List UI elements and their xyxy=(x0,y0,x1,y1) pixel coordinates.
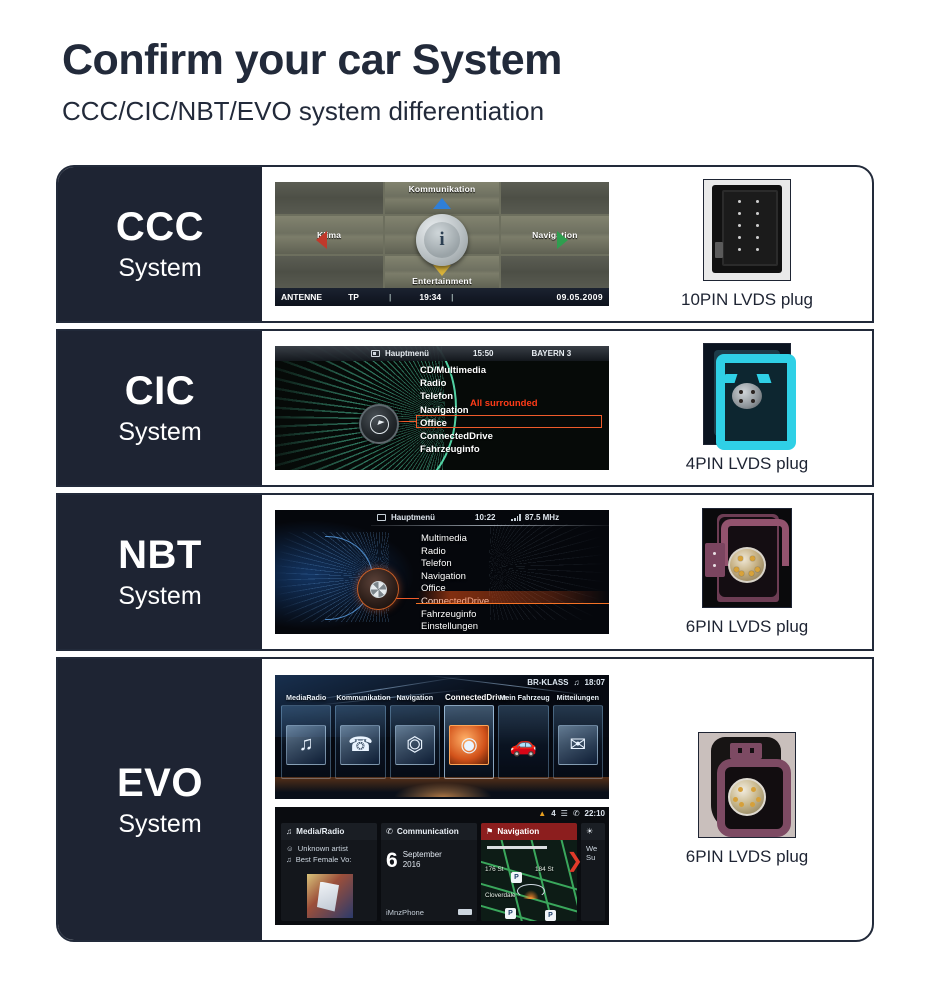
envelope-icon: ✉ xyxy=(558,725,598,765)
evo-station: BR-KLASS xyxy=(527,678,568,687)
evo-reflection xyxy=(395,783,491,797)
ccc-cell-blank-tr xyxy=(501,182,609,214)
cic-menu-item-6[interactable]: Fahrzeuginfo xyxy=(420,443,493,456)
battery-icon xyxy=(458,909,472,915)
phone-icon: ✆ xyxy=(386,826,393,836)
next-page-chevron-icon[interactable]: ❯ xyxy=(566,851,583,871)
evo-card-navigation[interactable]: ⚑ Navigation xyxy=(481,823,577,921)
nbt-title: Hauptmenü xyxy=(391,513,435,522)
plug-caption-ccc: 10PIN LVDS plug xyxy=(681,290,813,310)
evo-month: September xyxy=(403,850,442,860)
ccc-tile-label-top: Kommunikation xyxy=(409,184,476,194)
ccc-screen-image: Kommunikation Klima Navigation Entertai xyxy=(275,182,609,306)
car-icon: 🚗 xyxy=(503,725,543,765)
ccc-sep-1: | xyxy=(389,292,391,302)
nbt-time: 10:22 xyxy=(475,513,495,522)
evo-device-name: iMnzPhone xyxy=(386,908,424,917)
nbt-menu-item-2[interactable]: Telefon xyxy=(421,558,489,571)
evo-tile-row: MediaRadio ♫ Kommunikation ☎ Navigation … xyxy=(281,705,603,779)
plug-image-ccc xyxy=(703,179,791,281)
plug-image-cic xyxy=(703,343,791,445)
evo-tile-connecteddrive[interactable]: ConnectedDrive ◉ xyxy=(444,705,494,779)
parking-pin-icon: P xyxy=(505,908,516,919)
warning-icon: ▲ xyxy=(538,809,546,818)
cursor-icon xyxy=(370,415,389,434)
evo-media-line-0: ☺ Unknown artist xyxy=(286,844,372,853)
signal-icon xyxy=(511,514,520,521)
plug-top-block xyxy=(730,743,762,759)
evo-tile-label-1: Kommunikation xyxy=(336,693,384,702)
chevron-up-icon xyxy=(433,198,451,209)
phone-icon: ✆ xyxy=(573,809,580,818)
nbt-menu-item-7[interactable]: Einstellungen xyxy=(421,621,489,634)
cic-screen-image: Hauptmenü 15:50 BAYERN 3 CD/Multimedia R… xyxy=(275,346,609,470)
album-cover xyxy=(307,874,353,918)
evo-bottom-time: 22:10 xyxy=(585,809,605,818)
evo-tile-label-5: Mitteilungen xyxy=(554,693,602,702)
info-icon: i xyxy=(424,222,460,258)
screen-pane-evo: BR-KLASS ♫ 18:07 MediaRadio ♫ Kommunikat… xyxy=(262,659,622,940)
parking-pin-icon: P xyxy=(545,910,556,921)
ccc-station: ANTENNE xyxy=(281,292,322,302)
menu-icon xyxy=(371,350,380,357)
cic-dial-graphic xyxy=(359,404,399,444)
evo-card-weather[interactable]: ☀ We Su xyxy=(581,823,605,921)
phone-chat-icon: ☎ xyxy=(340,725,380,765)
evo-card-body-1: 6 September 2016 iMnzPhone xyxy=(381,840,477,921)
screen-pane-nbt: Hauptmenü 10:22 87.5 MHz Multimedia Radi… xyxy=(262,495,622,649)
plug-latch xyxy=(715,242,723,258)
evo-card-title-1: Communication xyxy=(397,827,459,836)
evo-day: 6 xyxy=(386,850,398,871)
nbt-menu-list: Multimedia Radio Telefon Navigation Offi… xyxy=(421,533,489,634)
evo-card-head-1: ✆ Communication xyxy=(381,823,477,840)
ccc-tile-navigation: Navigation xyxy=(501,216,609,253)
nbt-screen-image: Hauptmenü 10:22 87.5 MHz Multimedia Radi… xyxy=(275,510,609,634)
ccc-cell-blank-br xyxy=(501,256,609,288)
system-comparison-page: Confirm your car System CCC/CIC/NBT/EVO … xyxy=(0,0,930,1000)
evo-card-media-radio[interactable]: ♫ Media/Radio ☺ Unknown artist ♫ xyxy=(281,823,377,921)
cic-menu-item-1[interactable]: Radio xyxy=(420,377,493,390)
evo-tile-mitteilungen[interactable]: Mitteilungen ✉ xyxy=(553,705,603,779)
evo-top-status: BR-KLASS ♫ 18:07 xyxy=(527,678,605,687)
evo-card-body-0: ☺ Unknown artist ♫ Best Female Vo: xyxy=(281,840,377,921)
system-name-cic: CIC xyxy=(125,371,195,411)
ccc-traffic: TP xyxy=(348,292,359,302)
plug-caption-cic: 4PIN LVDS plug xyxy=(686,454,809,474)
menu-icon xyxy=(377,514,386,521)
page-header: Confirm your car System CCC/CIC/NBT/EVO … xyxy=(62,38,882,126)
plug-image-nbt xyxy=(702,508,792,608)
nbt-dial-graphic xyxy=(357,568,399,610)
label-pane-nbt: NBT System xyxy=(58,495,262,649)
system-name-nbt: NBT xyxy=(118,535,202,575)
system-row-cic[interactable]: CIC System Hauptmenü 15:50 BAYERN 3 CD/M… xyxy=(56,329,874,487)
evo-card-title-0: Media/Radio xyxy=(296,827,344,836)
vehicle-position-icon xyxy=(523,890,539,899)
evo-tile-mediaradio[interactable]: MediaRadio ♫ xyxy=(281,705,331,779)
ccc-cell-blank-tl xyxy=(275,182,383,214)
album-art-icon: ♫ xyxy=(286,725,326,765)
plug-pins-6 xyxy=(728,547,766,583)
evo-tile-navigation[interactable]: Navigation ⏣ xyxy=(390,705,440,779)
evo-card-title-2: Navigation xyxy=(497,827,539,836)
person-icon: ☺ xyxy=(286,844,294,853)
system-row-nbt[interactable]: NBT System Hauptmenü 10:22 xyxy=(56,493,874,651)
evo-tile-label-3: ConnectedDrive xyxy=(445,693,493,702)
evo-screen-top-image: BR-KLASS ♫ 18:07 MediaRadio ♫ Kommunikat… xyxy=(275,675,609,799)
music-note-icon: ♫ xyxy=(286,827,292,836)
evo-card-communication[interactable]: ✆ Communication 6 September 2016 xyxy=(381,823,477,921)
label-pane-evo: EVO System xyxy=(58,659,262,940)
plug-pane-cic: 4PIN LVDS plug xyxy=(622,331,872,485)
evo-weather-line-1: Su xyxy=(586,853,600,862)
plug-side-block xyxy=(705,543,725,577)
idrive-knob: i xyxy=(416,214,468,266)
evo-tile-kommunikation[interactable]: Kommunikation ☎ xyxy=(335,705,385,779)
evo-map-label-2: Cloverdale xyxy=(485,892,516,899)
ccc-tile-label-bottom: Entertainment xyxy=(412,276,472,286)
ccc-sep-2: | xyxy=(451,292,453,302)
label-pane-cic: CIC System xyxy=(58,331,262,485)
system-name-evo: EVO xyxy=(117,763,203,803)
label-pane-ccc: CCC System xyxy=(58,167,262,321)
evo-map-label-1: 184 St xyxy=(535,866,553,873)
plug-pane-ccc: 10PIN LVDS plug xyxy=(622,167,872,321)
screen-pane-ccc: Kommunikation Klima Navigation Entertai xyxy=(262,167,622,321)
ccc-tile-label-right: Navigation xyxy=(532,230,577,240)
weather-icon: ☀ xyxy=(586,826,593,836)
screen-pane-cic: Hauptmenü 15:50 BAYERN 3 CD/Multimedia R… xyxy=(262,331,622,485)
system-word-cic: System xyxy=(118,420,201,445)
chevron-right-icon xyxy=(557,231,568,249)
page-title: Confirm your car System xyxy=(62,38,882,83)
cic-selection-box xyxy=(416,415,602,428)
globe-icon: ◉ xyxy=(449,725,489,765)
system-row-ccc[interactable]: CCC System Kommunikation Klima xyxy=(56,165,874,323)
system-name-ccc: CCC xyxy=(116,207,204,247)
music-note-icon: ♫ xyxy=(286,855,292,864)
nbt-menu-item-1[interactable]: Radio xyxy=(421,546,489,559)
ccc-date: 09.05.2009 xyxy=(556,292,603,302)
parking-pin-icon: P xyxy=(511,872,522,883)
evo-bottom-status: ▲ 4 ☰ ✆ 22:10 xyxy=(538,809,605,818)
evo-year: 2016 xyxy=(403,860,442,870)
cic-station: BAYERN 3 xyxy=(531,349,571,358)
evo-tile-label-0: MediaRadio xyxy=(282,693,330,702)
nbt-selection-highlight xyxy=(416,591,609,604)
page-subtitle: CCC/CIC/NBT/EVO system differentiation xyxy=(62,97,882,126)
system-word-ccc: System xyxy=(118,256,201,281)
evo-card-head-2: ⚑ Navigation xyxy=(481,823,577,840)
ccc-status-bar: ANTENNE TP | 19:34 | 09.05.2009 xyxy=(275,288,609,306)
evo-warning-count: 4 xyxy=(551,809,555,818)
system-word-evo: System xyxy=(118,812,201,837)
map-icon: ⏣ xyxy=(395,725,435,765)
system-row-evo[interactable]: EVO System BR-KLASS ♫ 18:07 xyxy=(56,657,874,942)
cic-annotation: All surrounded xyxy=(470,398,538,409)
plug-pane-evo: 6PIN LVDS plug xyxy=(622,659,872,940)
evo-screen-bottom-image: ▲ 4 ☰ ✆ 22:10 ♫ Media/Radio xyxy=(275,807,609,925)
nbt-header-divider xyxy=(371,525,609,526)
nbt-menu-item-0[interactable]: Multimedia xyxy=(421,533,489,546)
evo-track: Best Female Vo: xyxy=(296,855,352,864)
evo-tile-mein-fahrzeug[interactable]: Mein Fahrzeug 🚗 xyxy=(498,705,548,779)
note-icon: ♫ xyxy=(574,678,580,687)
ccc-tile-klima: Klima xyxy=(275,216,383,253)
bmw-roundel-icon xyxy=(370,581,387,598)
plug-caption-evo: 6PIN LVDS plug xyxy=(686,847,809,867)
cic-menu-item-0[interactable]: CD/Multimedia xyxy=(420,364,493,377)
nbt-menu-item-3[interactable]: Navigation xyxy=(421,571,489,584)
cic-top-bar: Hauptmenü 15:50 BAYERN 3 xyxy=(275,346,609,361)
plug-pins-4 xyxy=(732,383,762,409)
nbt-top-bar: Hauptmenü 10:22 87.5 MHz xyxy=(275,510,609,525)
evo-card-body-3: We Su xyxy=(581,840,605,921)
signal-icon: ☰ xyxy=(561,809,568,818)
evo-map-label-0: 176 St xyxy=(485,866,503,873)
cic-time: 15:50 xyxy=(473,349,493,358)
plug-caption-nbt: 6PIN LVDS plug xyxy=(686,617,809,637)
ccc-time: 19:34 xyxy=(419,292,441,302)
system-rows: CCC System Kommunikation Klima xyxy=(56,165,874,942)
cic-menu-item-5[interactable]: ConnectedDrive xyxy=(420,430,493,443)
plug-pins-6 xyxy=(728,778,766,816)
evo-card-head-3: ☀ xyxy=(581,823,605,840)
ccc-cell-blank-bl xyxy=(275,256,383,288)
chevron-left-icon xyxy=(316,231,327,249)
nbt-menu-item-6[interactable]: Fahrzeuginfo xyxy=(421,609,489,622)
chevron-down-icon xyxy=(433,265,451,276)
nav-flag-icon: ⚑ xyxy=(486,826,493,836)
nbt-right-grid xyxy=(489,524,609,620)
evo-weather-line-0: We xyxy=(586,844,600,853)
evo-card-row: ♫ Media/Radio ☺ Unknown artist ♫ xyxy=(281,823,605,921)
plug-pane-nbt: 6PIN LVDS plug xyxy=(622,495,872,649)
evo-tile-label-2: Navigation xyxy=(391,693,439,702)
nbt-radio-freq: 87.5 MHz xyxy=(525,513,559,522)
plug-pins-10 xyxy=(730,196,766,256)
evo-time: 18:07 xyxy=(585,678,605,687)
plug-image-evo xyxy=(698,732,796,838)
evo-card-head-0: ♫ Media/Radio xyxy=(281,823,377,840)
evo-media-line-1: ♫ Best Female Vo: xyxy=(286,855,372,864)
cic-menu-list: CD/Multimedia Radio Telefon Navigation O… xyxy=(420,364,493,456)
cic-title: Hauptmenü xyxy=(385,349,429,358)
evo-date-block: 6 September 2016 xyxy=(386,850,472,871)
evo-phone-row: iMnzPhone xyxy=(386,908,472,917)
evo-tile-label-4: Mein Fahrzeug xyxy=(499,693,547,702)
evo-artist: Unknown artist xyxy=(298,844,348,853)
system-word-nbt: System xyxy=(118,584,201,609)
evo-map-view: 176 St 184 St Cloverdale Willow P P P xyxy=(481,840,577,921)
